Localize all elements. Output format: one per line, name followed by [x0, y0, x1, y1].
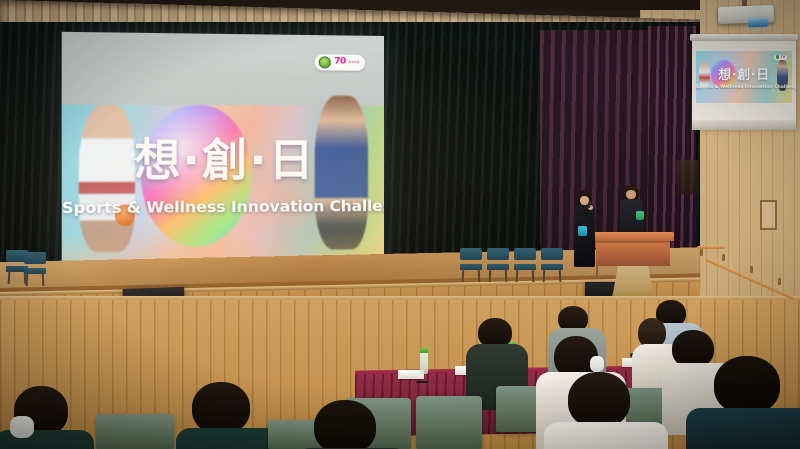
podium-stem: [612, 266, 654, 298]
chair-leg: [505, 268, 508, 282]
chair-back: [460, 248, 482, 260]
chair-leg: [478, 268, 481, 282]
lanyard-badge: [578, 226, 587, 236]
stage-wing-opening: [676, 160, 698, 194]
head: [568, 372, 630, 428]
chair-leg: [543, 268, 546, 282]
chair-leg: [462, 268, 465, 282]
audience-chair: [96, 414, 174, 449]
chair-back: [24, 252, 46, 264]
projector-lens-icon: [748, 19, 768, 28]
stage-chair: [24, 252, 46, 286]
chair-leg: [26, 272, 29, 286]
secondary-screen-bottom-bar: [692, 120, 796, 130]
handrail-post: [778, 278, 781, 285]
slide-subtitle-english: Sports & Wellness Innovation Challenge: [62, 198, 384, 217]
podium-top: [592, 232, 674, 241]
stage-chair: [487, 248, 509, 282]
audience-chair: [416, 396, 482, 449]
slide-anniversary-logo: 70 體育學會: [315, 54, 365, 71]
head: [714, 356, 780, 414]
chair-leg: [42, 272, 45, 286]
stage-chair: [460, 248, 482, 282]
torso: [544, 422, 668, 449]
head: [192, 382, 250, 434]
chair-back: [487, 248, 509, 260]
main-projection-screen: 70 體育學會 想·創·日 Sports & Wellness Innovati…: [62, 32, 384, 272]
face-mask-icon: [10, 416, 34, 438]
handrail-post: [722, 254, 725, 261]
secondary-screen-housing: [690, 34, 798, 41]
water-bottle-cap: [420, 348, 428, 353]
secondary-logo-number: 70: [780, 55, 785, 59]
slide-logo-cjk-text: 體育學會: [349, 61, 359, 64]
face-mask-icon: [590, 356, 604, 372]
secondary-projection-screen: 70 想·創·日 Sports & Wellness Innovation Ch…: [692, 41, 796, 127]
slide-logo-number: 70: [334, 58, 346, 67]
auditorium-photo: 70 體育學會 想·創·日 Sports & Wellness Innovati…: [0, 0, 800, 449]
chair-back: [514, 248, 536, 260]
head: [314, 400, 376, 449]
pen: [416, 381, 428, 383]
chair-leg: [489, 268, 492, 282]
handrail-post: [750, 266, 753, 273]
handrail-post: [700, 249, 703, 256]
presenter-with-microphone: [572, 190, 598, 272]
chair-leg: [532, 268, 535, 282]
secondary-slide-subtitle: Sports & Wellness Innovation Challenge: [696, 85, 792, 90]
torso: [686, 408, 800, 449]
chair-back: [541, 248, 563, 260]
stage-chair: [541, 248, 563, 282]
chair-leg: [516, 268, 519, 282]
wall-mounted-fixture: [760, 200, 777, 230]
face: [626, 190, 636, 199]
secondary-logo-crest-icon: [776, 55, 780, 59]
secondary-slide-title: 想·創·日: [696, 69, 792, 83]
slide-logo-crest-icon: [319, 56, 331, 68]
stage-chair: [514, 248, 536, 282]
secondary-slide-artwork: 70 想·創·日 Sports & Wellness Innovation Ch…: [696, 51, 792, 103]
water-bottle: [420, 352, 428, 374]
slide-title-cjk: 想·創·日: [62, 138, 384, 186]
chair-leg: [8, 270, 11, 284]
podium-body: [596, 240, 670, 266]
lanyard-badge: [636, 211, 644, 220]
secondary-slide-logo: 70: [774, 55, 788, 60]
chair-leg: [559, 268, 562, 282]
